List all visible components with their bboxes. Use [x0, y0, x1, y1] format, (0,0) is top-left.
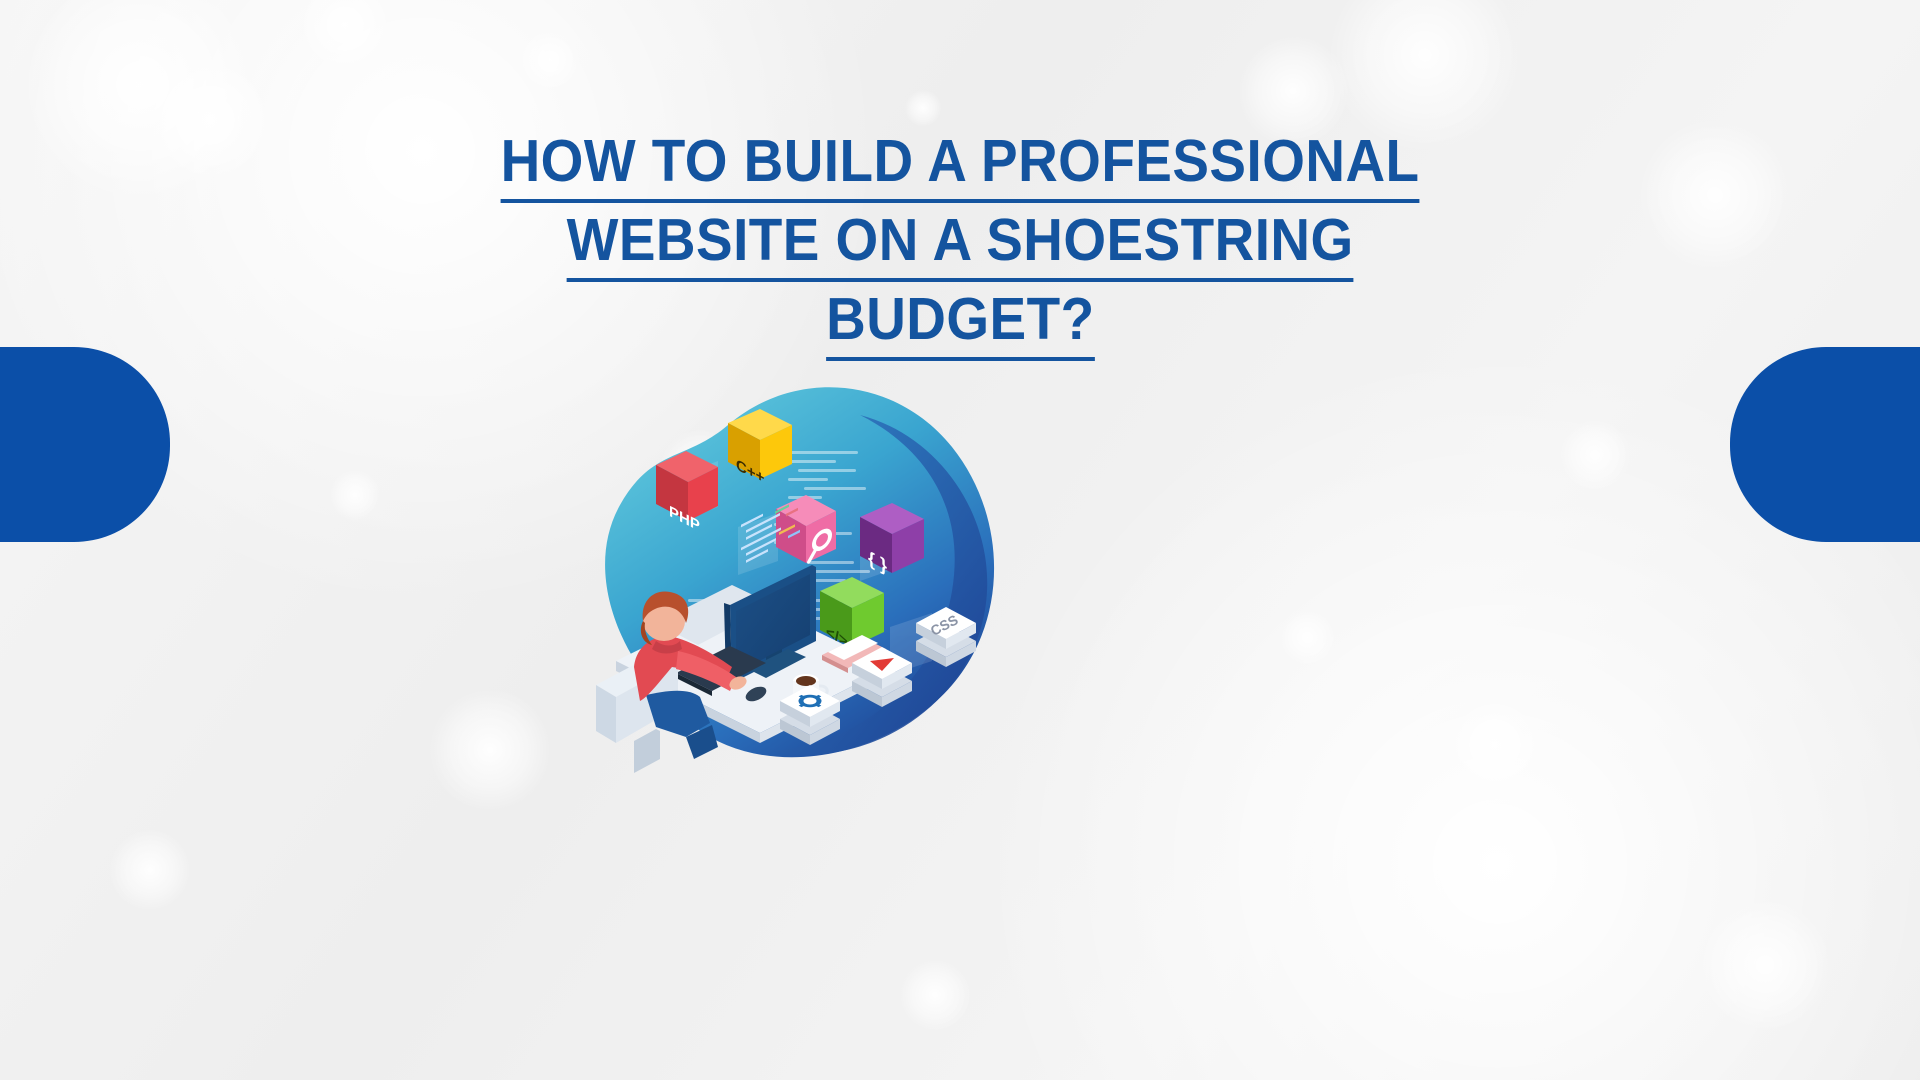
- title-line-2: WEBSITE ON A SHOESTRING: [400, 204, 1520, 283]
- title-line-1: HOW TO BUILD A PROFESSIONAL: [400, 125, 1520, 204]
- slide-title: HOW TO BUILD A PROFESSIONAL WEBSITE ON A…: [400, 125, 1520, 362]
- right-accent-shape: [1730, 347, 1920, 542]
- hero-illustration: PHP C++: [560, 355, 1030, 785]
- title-line-3: BUDGET?: [400, 283, 1520, 362]
- slide-canvas: HOW TO BUILD A PROFESSIONAL WEBSITE ON A…: [0, 0, 1920, 1080]
